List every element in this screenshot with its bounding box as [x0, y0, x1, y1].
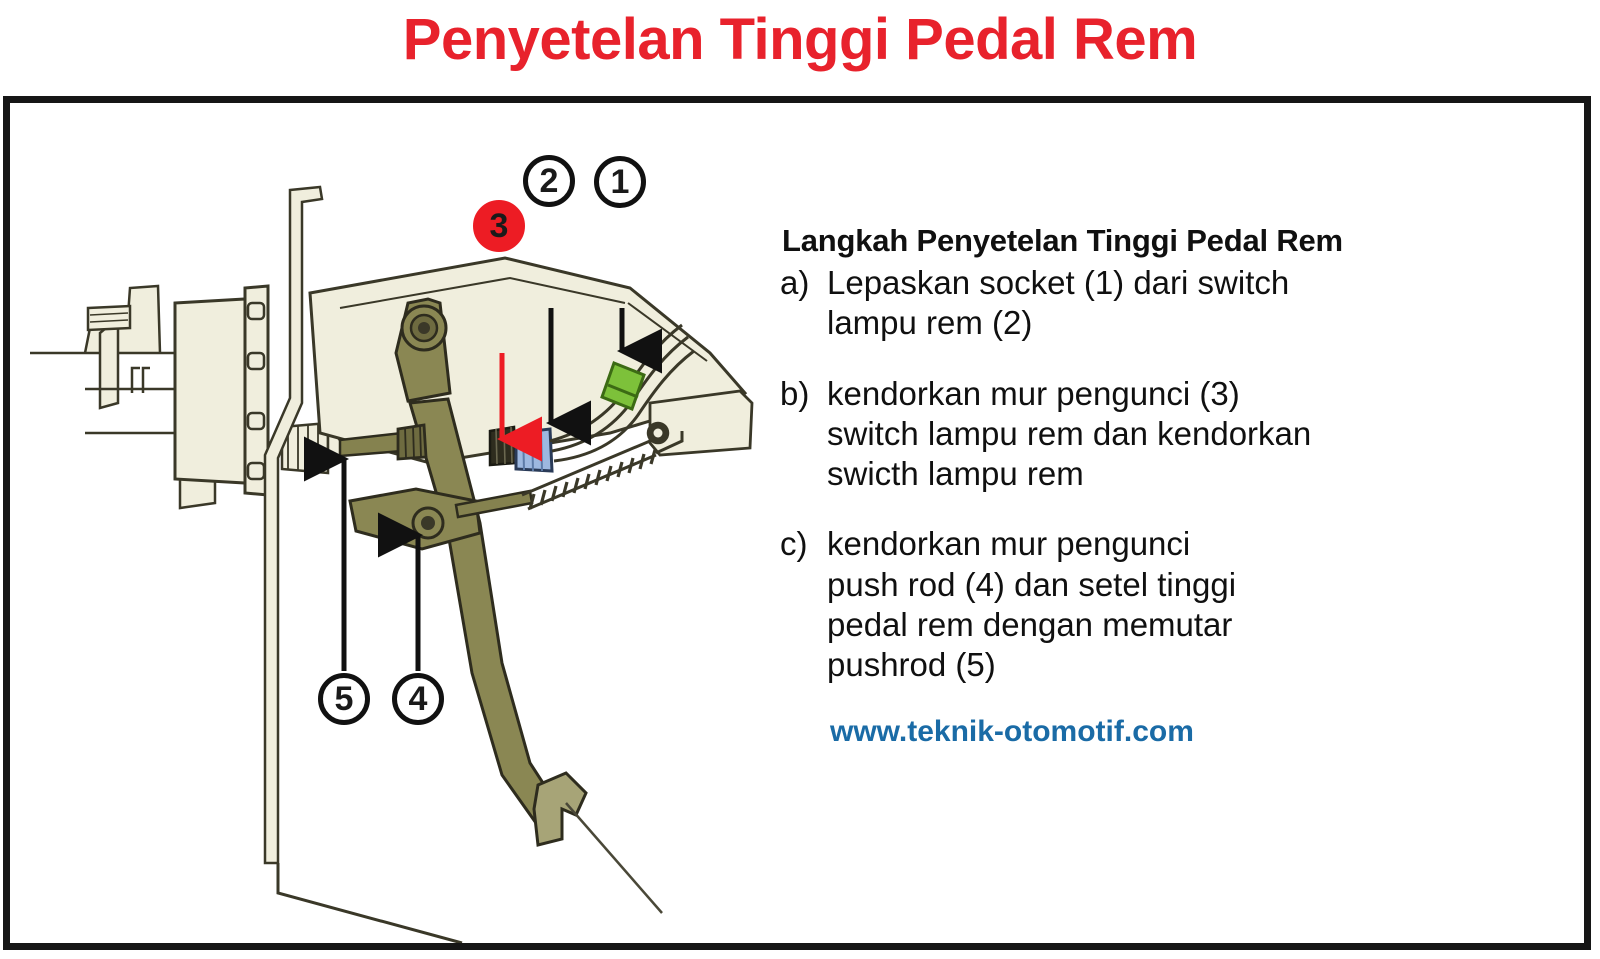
instruction-step-b: b) kendorkan mur pengunci (3) switch lam…	[780, 374, 1570, 495]
step-c-line-2: push rod (4) dan setel tinggi	[827, 565, 1570, 605]
floor-line	[566, 803, 662, 913]
step-marker-a: a)	[780, 263, 827, 344]
callout-label-3: 3	[490, 209, 509, 243]
callout-badge-3[interactable]: 3	[473, 200, 525, 252]
brake-light-switch	[516, 429, 552, 471]
bracket-right-tail	[648, 391, 752, 455]
step-b-line-2: switch lampu rem dan kendorkan	[827, 414, 1570, 454]
step-marker-c: c)	[780, 524, 827, 685]
instructions-panel: Langkah Penyetelan Tinggi Pedal Rem a) L…	[780, 223, 1570, 749]
callout-badge-4[interactable]: 4	[392, 673, 444, 725]
step-marker-b: b)	[780, 374, 827, 495]
step-body-a: Lepaskan socket (1) dari switch lampu re…	[827, 263, 1570, 344]
lower-bracket-leg	[278, 863, 462, 943]
step-b-line-3: swicth lampu rem	[827, 454, 1570, 494]
page-title: Penyetelan Tinggi Pedal Rem	[0, 10, 1600, 71]
instruction-step-a: a) Lepaskan socket (1) dari switch lampu…	[780, 263, 1570, 344]
step-body-b: kendorkan mur pengunci (3) switch lampu …	[827, 374, 1570, 495]
step-a-line-2: lampu rem (2)	[827, 303, 1570, 343]
site-url-link[interactable]: www.teknik-otomotif.com	[830, 715, 1570, 749]
callout-badge-2[interactable]: 2	[523, 155, 575, 207]
callout-label-5: 5	[335, 682, 354, 716]
step-c-line-1: kendorkan mur pengunci	[827, 524, 1570, 564]
step-c-line-3: pedal rem dengan memutar	[827, 605, 1570, 645]
callout-label-4: 4	[409, 682, 428, 716]
instruction-step-c: c) kendorkan mur pengunci push rod (4) d…	[780, 524, 1570, 685]
callout-badge-1[interactable]: 1	[594, 156, 646, 208]
brake-booster	[85, 286, 268, 495]
step-b-line-1: kendorkan mur pengunci (3)	[827, 374, 1570, 414]
push-rod-lock-nut	[398, 425, 426, 459]
step-a-line-1: Lepaskan socket (1) dari switch	[827, 263, 1570, 303]
step-c-line-4: pushrod (5)	[827, 645, 1570, 685]
brake-pedal-diagram: 1 2 3 4 5	[10, 103, 780, 943]
step-body-c: kendorkan mur pengunci push rod (4) dan …	[827, 524, 1570, 685]
content-frame: 1 2 3 4 5 Langkah Penyetelan Tinggi Peda…	[3, 96, 1591, 950]
pedal-support-bracket	[265, 187, 322, 863]
callout-label-2: 2	[540, 164, 559, 198]
callout-badge-5[interactable]: 5	[318, 673, 370, 725]
instructions-heading: Langkah Penyetelan Tinggi Pedal Rem	[782, 223, 1570, 259]
callout-label-1: 1	[611, 165, 630, 199]
